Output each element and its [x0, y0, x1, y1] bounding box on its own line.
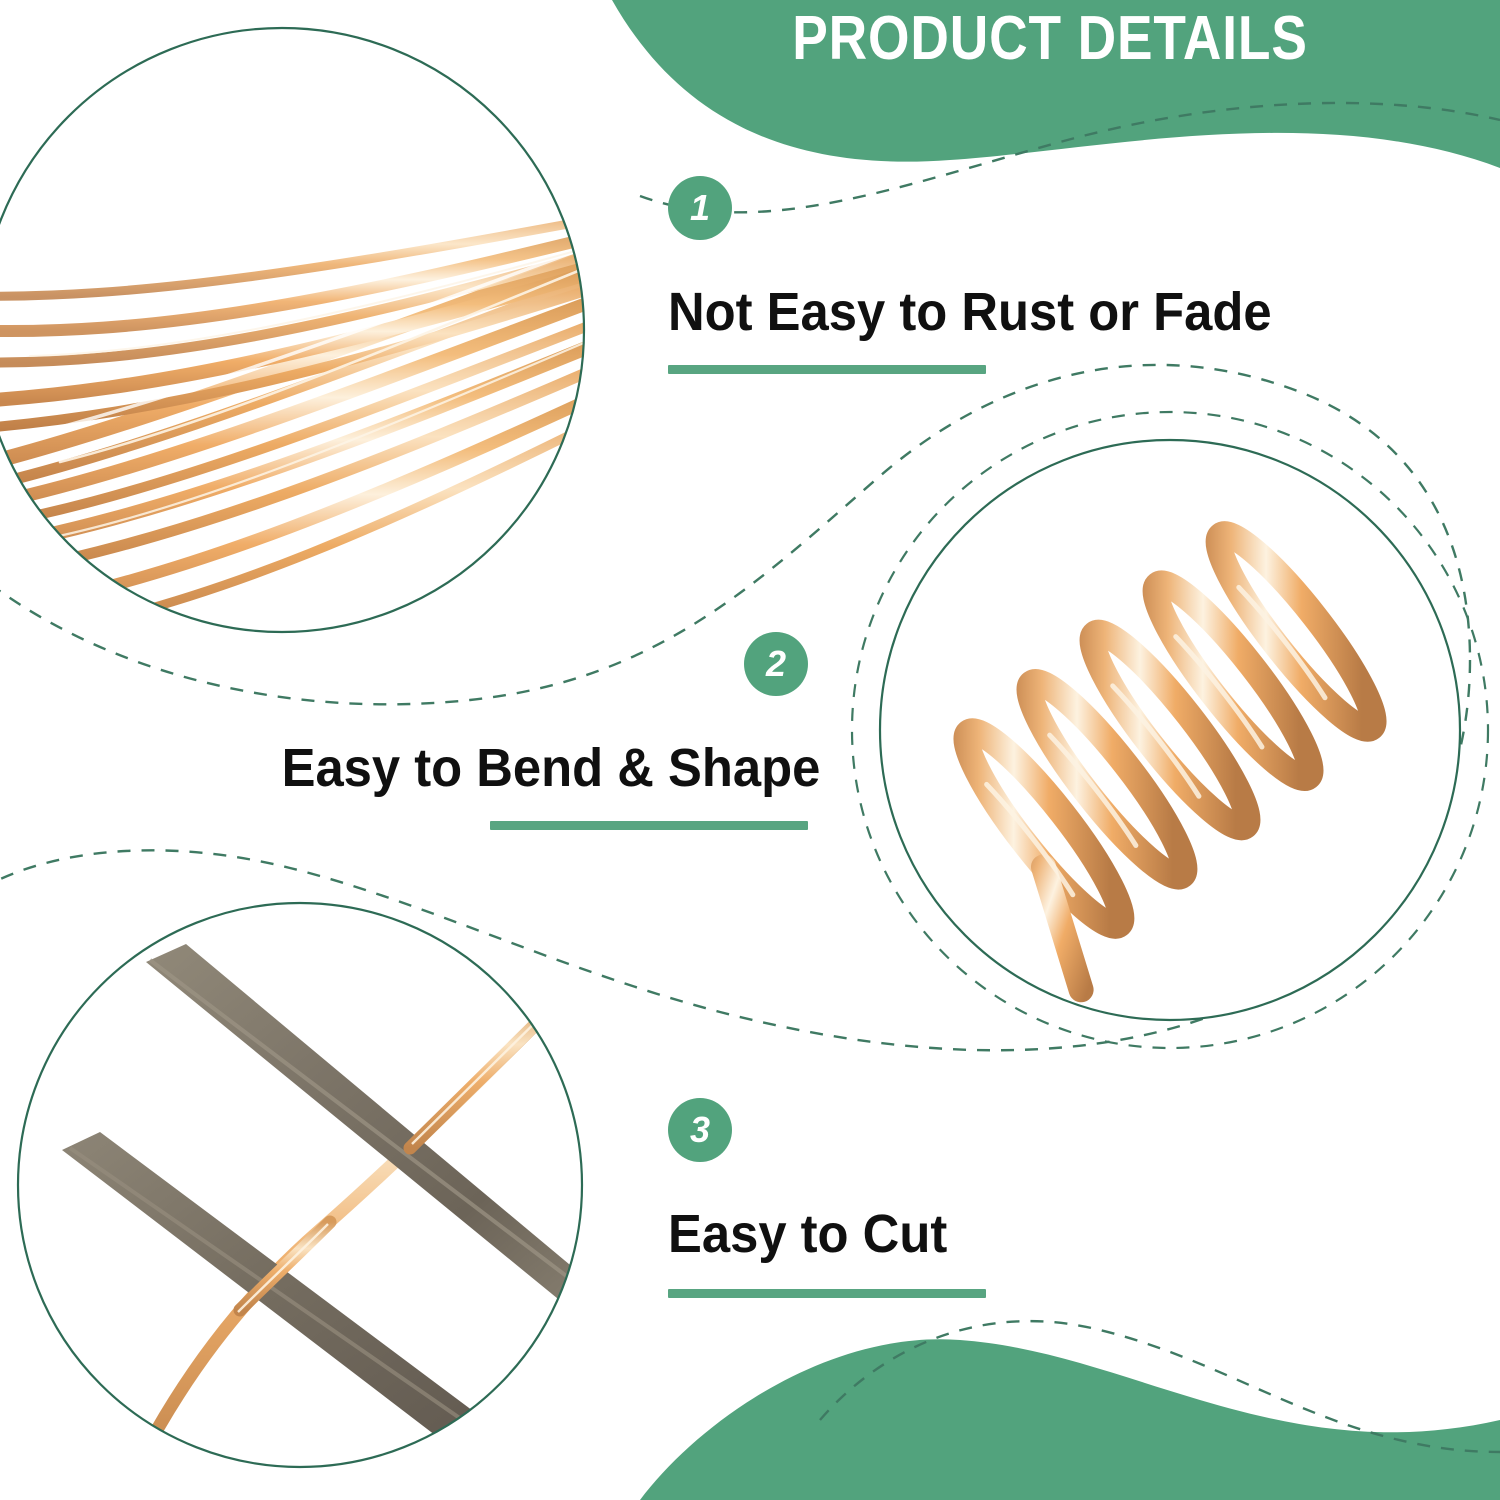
- copper-wire-strands-photo: [0, 20, 620, 640]
- copper-wire-coil-spring-photo: [870, 430, 1470, 1030]
- feature-1-title: Not Easy to Rust or Fade: [668, 284, 1272, 341]
- feature-1-underline: [668, 365, 986, 374]
- feature-2-badge-row: 2: [248, 632, 808, 696]
- feature-2-title: Easy to Bend & Shape: [282, 740, 808, 797]
- feature-3-title: Easy to Cut: [668, 1206, 967, 1263]
- feature-item-3: 3 Easy to Cut: [668, 1098, 986, 1298]
- footer-green-shape: [640, 1339, 1500, 1500]
- scissors-cutting-copper-wire-photo: [10, 890, 600, 1500]
- page-title: PRODUCT DETAILS: [697, 6, 1402, 71]
- feature-3-number-badge: 3: [668, 1098, 732, 1162]
- feature-1-number-badge: 1: [668, 176, 732, 240]
- feature-item-1: 1 Not Easy to Rust or Fade: [668, 176, 1310, 374]
- feature-2-number-badge: 2: [744, 632, 808, 696]
- feature-item-2: 2 Easy to Bend & Shape: [248, 632, 808, 830]
- feature-3-underline: [668, 1289, 986, 1298]
- feature-2-underline: [490, 821, 808, 830]
- product-details-infographic: PRODUCT DETAILS 1 Not Easy to Rust or Fa…: [0, 0, 1500, 1500]
